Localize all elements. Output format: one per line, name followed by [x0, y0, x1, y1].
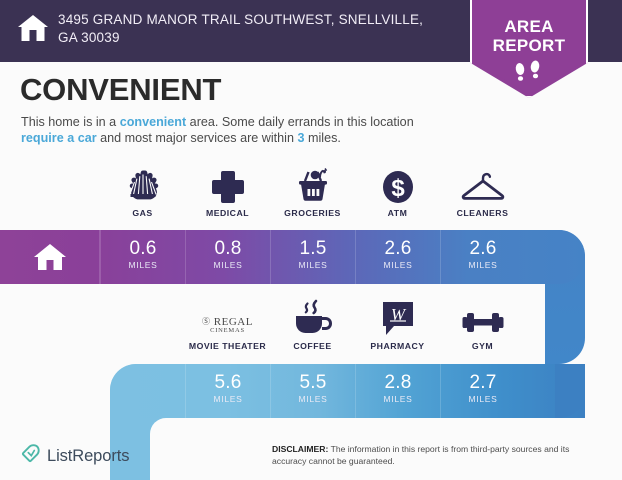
- listreports-logo-text: ListReports: [47, 447, 129, 466]
- subtitle-part-1: This home is in a: [21, 115, 120, 129]
- distance-unit: MILES: [271, 260, 355, 270]
- subtitle-part-2: area. Some daily errands in this locatio…: [186, 115, 414, 129]
- walgreens-w-icon: W: [355, 296, 440, 338]
- coffee-cup-icon: [270, 296, 355, 338]
- category-groceries: GROCERIES: [270, 163, 355, 218]
- category-gas: GAS: [100, 163, 185, 218]
- distance-cell-cleaners: 2.6 MILES: [440, 230, 525, 284]
- shell-gas-icon: [100, 163, 185, 205]
- svg-text:$: $: [391, 175, 405, 202]
- distance-unit: MILES: [441, 260, 525, 270]
- category-coffee: COFFEE: [270, 296, 355, 351]
- category-label: GROCERIES: [270, 208, 355, 218]
- category-label: GYM: [440, 341, 525, 351]
- distance-cell-groceries: 1.5 MILES: [270, 230, 355, 284]
- disclaimer-label: DISCLAIMER:: [272, 444, 328, 454]
- home-icon: [17, 12, 49, 44]
- subtitle-part-4: miles.: [305, 131, 341, 145]
- category-label: CLEANERS: [440, 208, 525, 218]
- distance-unit: MILES: [186, 394, 270, 404]
- dumbbell-icon: [440, 296, 525, 338]
- distance-value: 5.5: [271, 372, 355, 394]
- top-category-icon-row: GAS MEDICAL: [100, 163, 525, 225]
- disclaimer: DISCLAIMER: The information in this repo…: [272, 444, 592, 467]
- subtitle-highlight-2: require a car: [21, 131, 97, 145]
- area-report-badge-label: AREA REPORT: [470, 17, 588, 55]
- category-label: ATM: [355, 208, 440, 218]
- home-origin-cell: [0, 230, 100, 284]
- listreports-logo: ListReports: [20, 443, 129, 469]
- category-label: GAS: [100, 208, 185, 218]
- bottom-category-icon-row: Ⓢ REGAL CINEMAS MOVIE THEATER COFFEE: [185, 296, 525, 358]
- distance-value: 2.6: [356, 238, 440, 260]
- distance-cell-medical: 0.8 MILES: [185, 230, 270, 284]
- distance-value: 2.8: [356, 372, 440, 394]
- distance-value: 1.5: [271, 238, 355, 260]
- page-subtitle: This home is in a convenient area. Some …: [21, 114, 446, 146]
- distance-cell-movie-theater: 5.6 MILES: [185, 364, 270, 418]
- bottom-distance-cells: 5.6 MILES 5.5 MILES 2.8 MILES 2.7 MILES: [185, 364, 525, 418]
- distance-cell-pharmacy: 2.8 MILES: [355, 364, 440, 418]
- category-medical: MEDICAL: [185, 163, 270, 218]
- regal-crown-icon: Ⓢ: [202, 317, 211, 326]
- home-icon: [33, 243, 67, 271]
- category-pharmacy: W PHARMACY: [355, 296, 440, 351]
- subtitle-part-3: and most major services are within: [97, 131, 298, 145]
- page-title: CONVENIENT: [20, 72, 221, 108]
- category-label: COFFEE: [270, 341, 355, 351]
- clothes-hanger-icon: [440, 163, 525, 205]
- distance-unit: MILES: [101, 260, 185, 270]
- distance-cell-gas: 0.6 MILES: [100, 230, 185, 284]
- category-cleaners: CLEANERS: [440, 163, 525, 218]
- distance-unit: MILES: [186, 260, 270, 270]
- category-atm: $ ATM: [355, 163, 440, 218]
- dollar-coin-icon: $: [355, 163, 440, 205]
- subtitle-highlight-3: 3: [297, 131, 304, 145]
- distance-cell-atm: 2.6 MILES: [355, 230, 440, 284]
- property-address: 3495 GRAND MANOR TRAIL SOUTHWEST, SNELLV…: [58, 11, 443, 47]
- distance-unit: MILES: [441, 394, 525, 404]
- grocery-basket-icon: [270, 163, 355, 205]
- subtitle-highlight-1: convenient: [120, 115, 186, 129]
- footprints-icon: [470, 60, 588, 89]
- distance-cell-coffee: 5.5 MILES: [270, 364, 355, 418]
- distance-value: 5.6: [186, 372, 270, 394]
- category-gym: GYM: [440, 296, 525, 351]
- medical-cross-icon: [185, 163, 270, 205]
- distance-unit: MILES: [356, 260, 440, 270]
- category-label: PHARMACY: [355, 341, 440, 351]
- badge-line-1: AREA: [504, 17, 553, 36]
- distance-value: 2.6: [441, 238, 525, 260]
- category-label: MOVIE THEATER: [185, 341, 270, 351]
- distance-value: 2.7: [441, 372, 525, 394]
- badge-line-2: REPORT: [493, 36, 566, 55]
- regal-cinemas-logo: Ⓢ REGAL CINEMAS: [185, 296, 270, 338]
- snake-bar-inner-notch-bottom: [150, 418, 210, 480]
- top-distance-cells: 0.6 MILES 0.8 MILES 1.5 MILES 2.6 MILES …: [100, 230, 525, 284]
- distance-value: 0.6: [101, 238, 185, 260]
- distance-cell-gym: 2.7 MILES: [440, 364, 525, 418]
- area-report-page: 3495 GRAND MANOR TRAIL SOUTHWEST, SNELLV…: [0, 0, 622, 480]
- category-label: MEDICAL: [185, 208, 270, 218]
- listreports-pin-icon: [20, 443, 41, 469]
- distance-value: 0.8: [186, 238, 270, 260]
- category-movie-theater: Ⓢ REGAL CINEMAS MOVIE THEATER: [185, 296, 270, 351]
- distance-unit: MILES: [356, 394, 440, 404]
- regal-logo-sub: CINEMAS: [202, 328, 253, 335]
- distance-unit: MILES: [271, 394, 355, 404]
